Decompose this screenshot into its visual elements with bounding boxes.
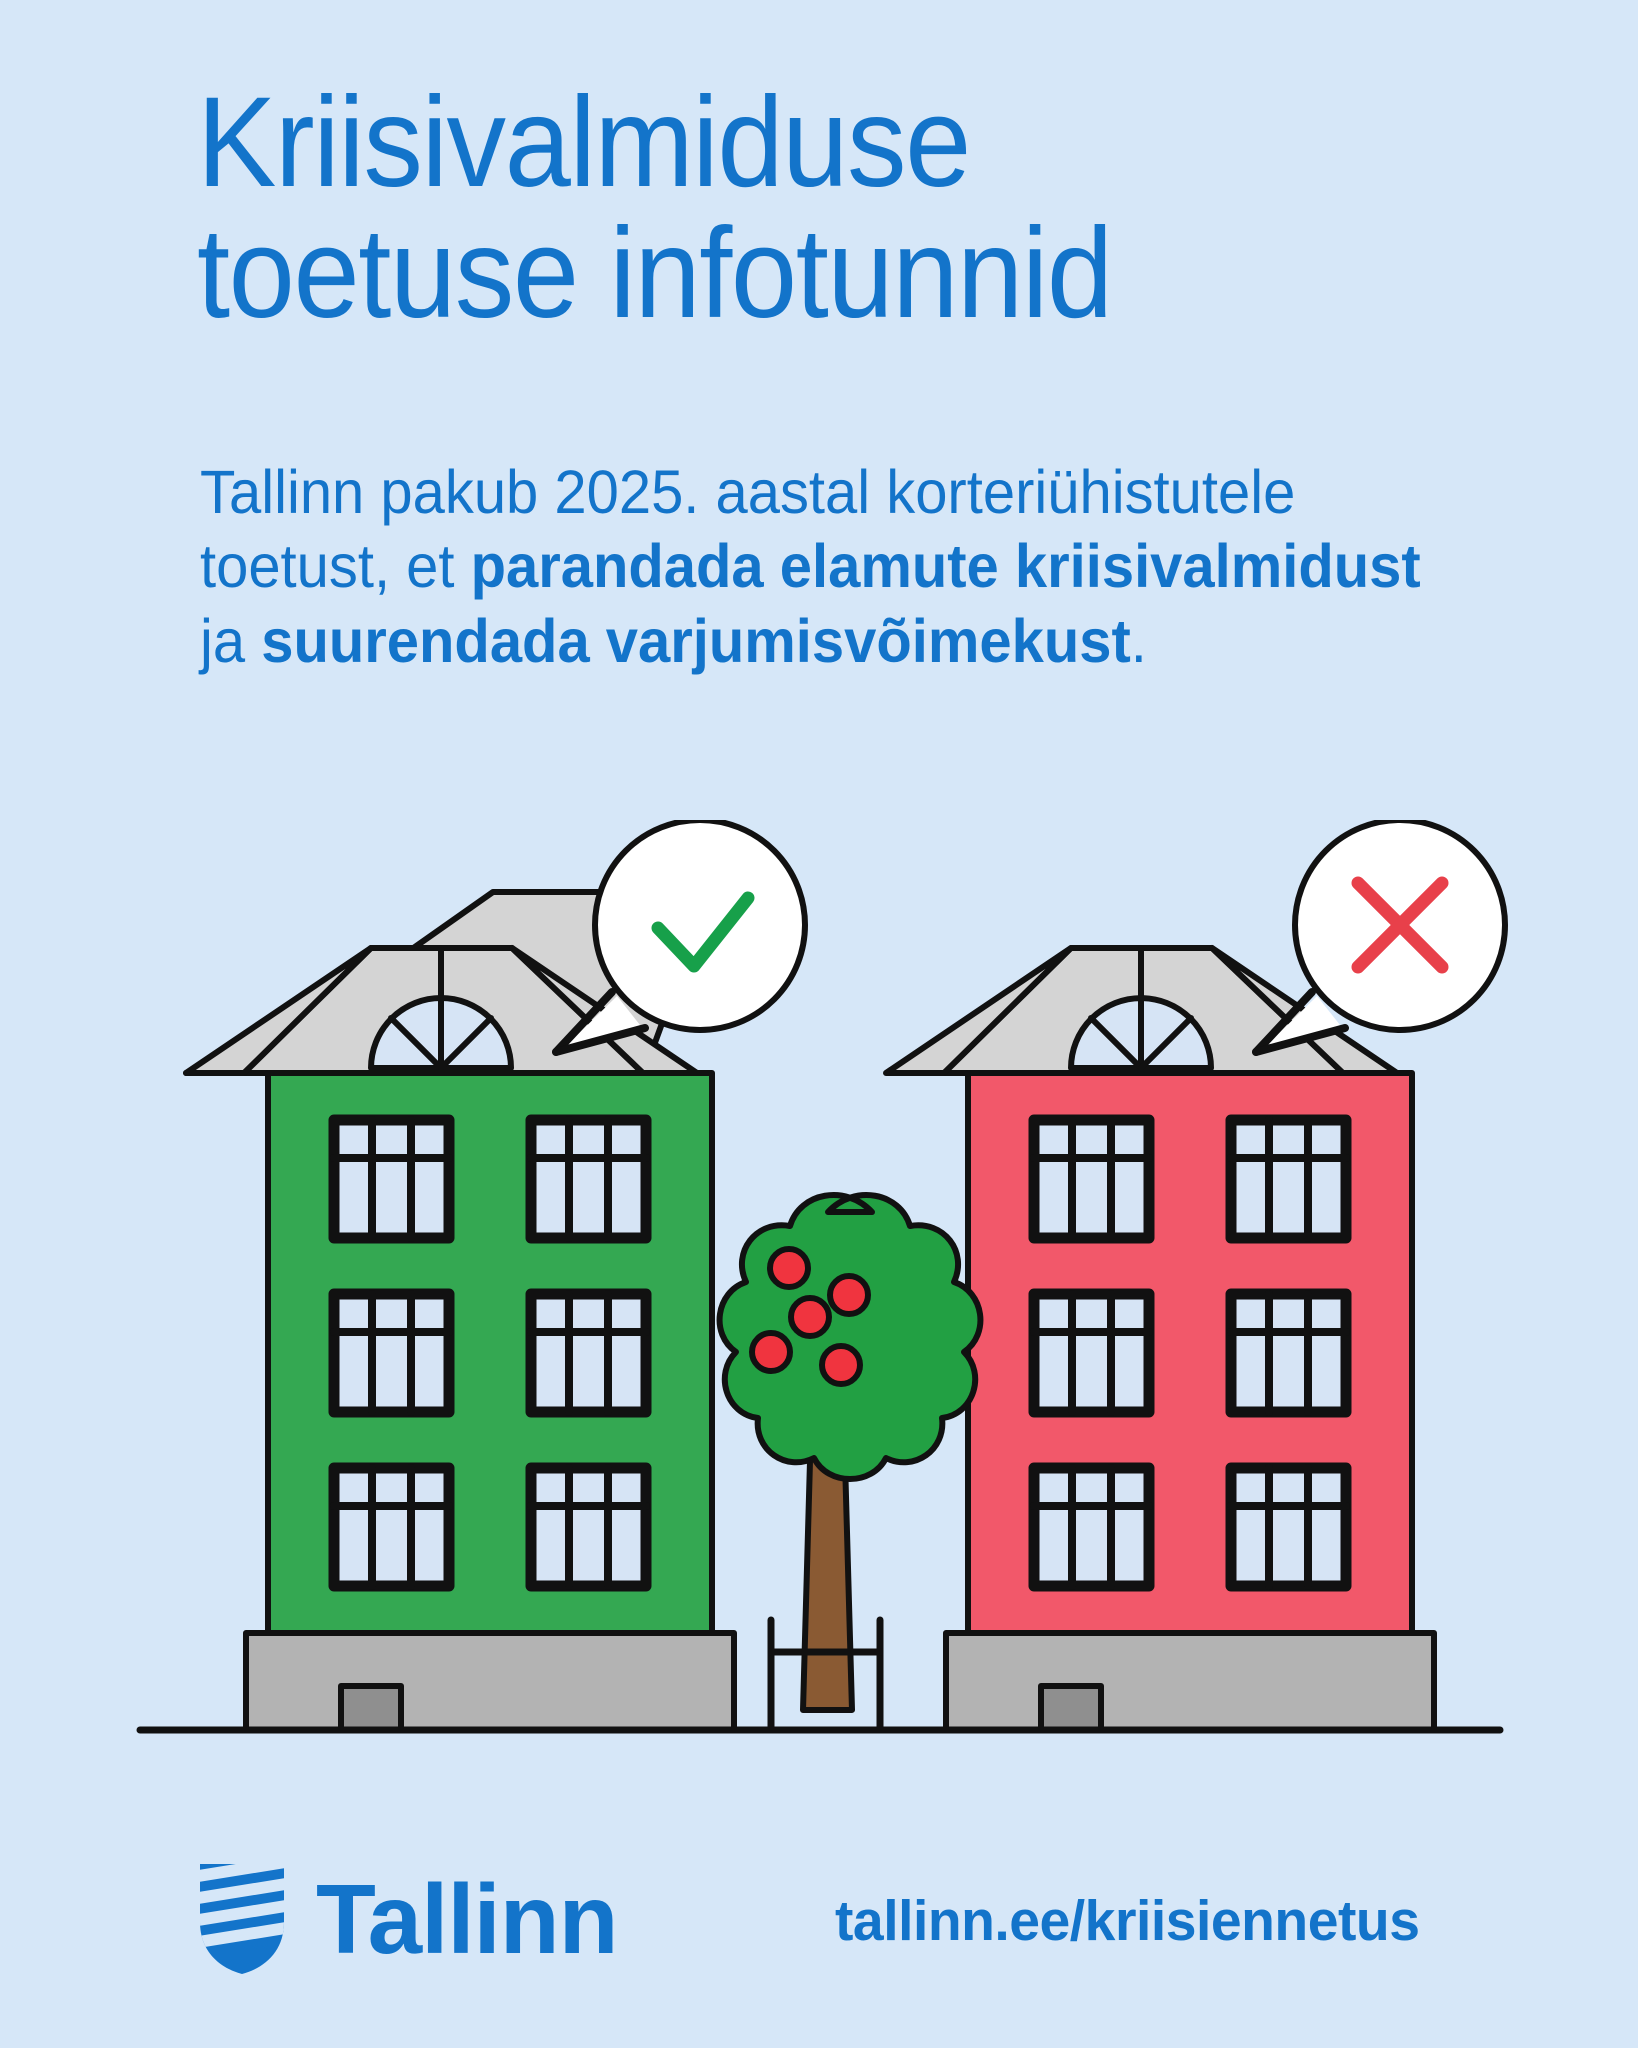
tallinn-city-logo[interactable]: Tallinn <box>196 1860 618 1978</box>
tallinn-shield-icon <box>196 1860 288 1978</box>
website-url[interactable]: tallinn.ee/kriisiennetus <box>835 1888 1419 1954</box>
check-speech-bubble <box>556 820 805 1052</box>
good-building-window <box>531 1294 646 1412</box>
page-title: Kriisivalmiduse toetuse infotunnid <box>197 78 1387 339</box>
good-building-window <box>334 1120 449 1238</box>
good-building-window <box>531 1120 646 1238</box>
good-building-base <box>246 1633 734 1730</box>
bad-building-window <box>1231 1294 1346 1412</box>
bad-building-window <box>1034 1294 1149 1412</box>
illustration <box>0 820 1638 1750</box>
good-building-window <box>334 1294 449 1412</box>
tallinn-wordmark: Tallinn <box>316 1870 618 1968</box>
body-segment-2-bold: parandada elamute kriisivalmidust <box>471 532 1421 600</box>
bad-building-door <box>1041 1686 1101 1730</box>
body-copy: Tallinn pakub 2025. aastal korteriühistu… <box>200 455 1435 678</box>
bad-building-window <box>1034 1468 1149 1586</box>
good-building-door <box>341 1686 401 1730</box>
footer: Tallinn tallinn.ee/kriisiennetus <box>0 1840 1638 2010</box>
bad-building-window <box>1231 1120 1346 1238</box>
tree-fruit <box>822 1346 860 1384</box>
tree-fruit <box>791 1298 829 1336</box>
bad-building-window <box>1231 1468 1346 1586</box>
good-building-window <box>531 1468 646 1586</box>
tree-fruit <box>770 1249 808 1287</box>
body-segment-3: ja <box>200 607 261 675</box>
bad-building-window <box>1034 1120 1149 1238</box>
tree-fruit <box>752 1333 790 1371</box>
cross-speech-bubble <box>1256 820 1505 1052</box>
good-building-window <box>334 1468 449 1586</box>
body-segment-5: . <box>1131 607 1147 675</box>
body-segment-4-bold: suurendada varjumisvõimekust <box>261 607 1131 675</box>
poster-canvas: Kriisivalmiduse toetuse infotunnid Talli… <box>0 0 1638 2048</box>
tree-fruit <box>830 1276 868 1314</box>
bad-building-base <box>946 1633 1434 1730</box>
tree <box>720 1195 981 1728</box>
